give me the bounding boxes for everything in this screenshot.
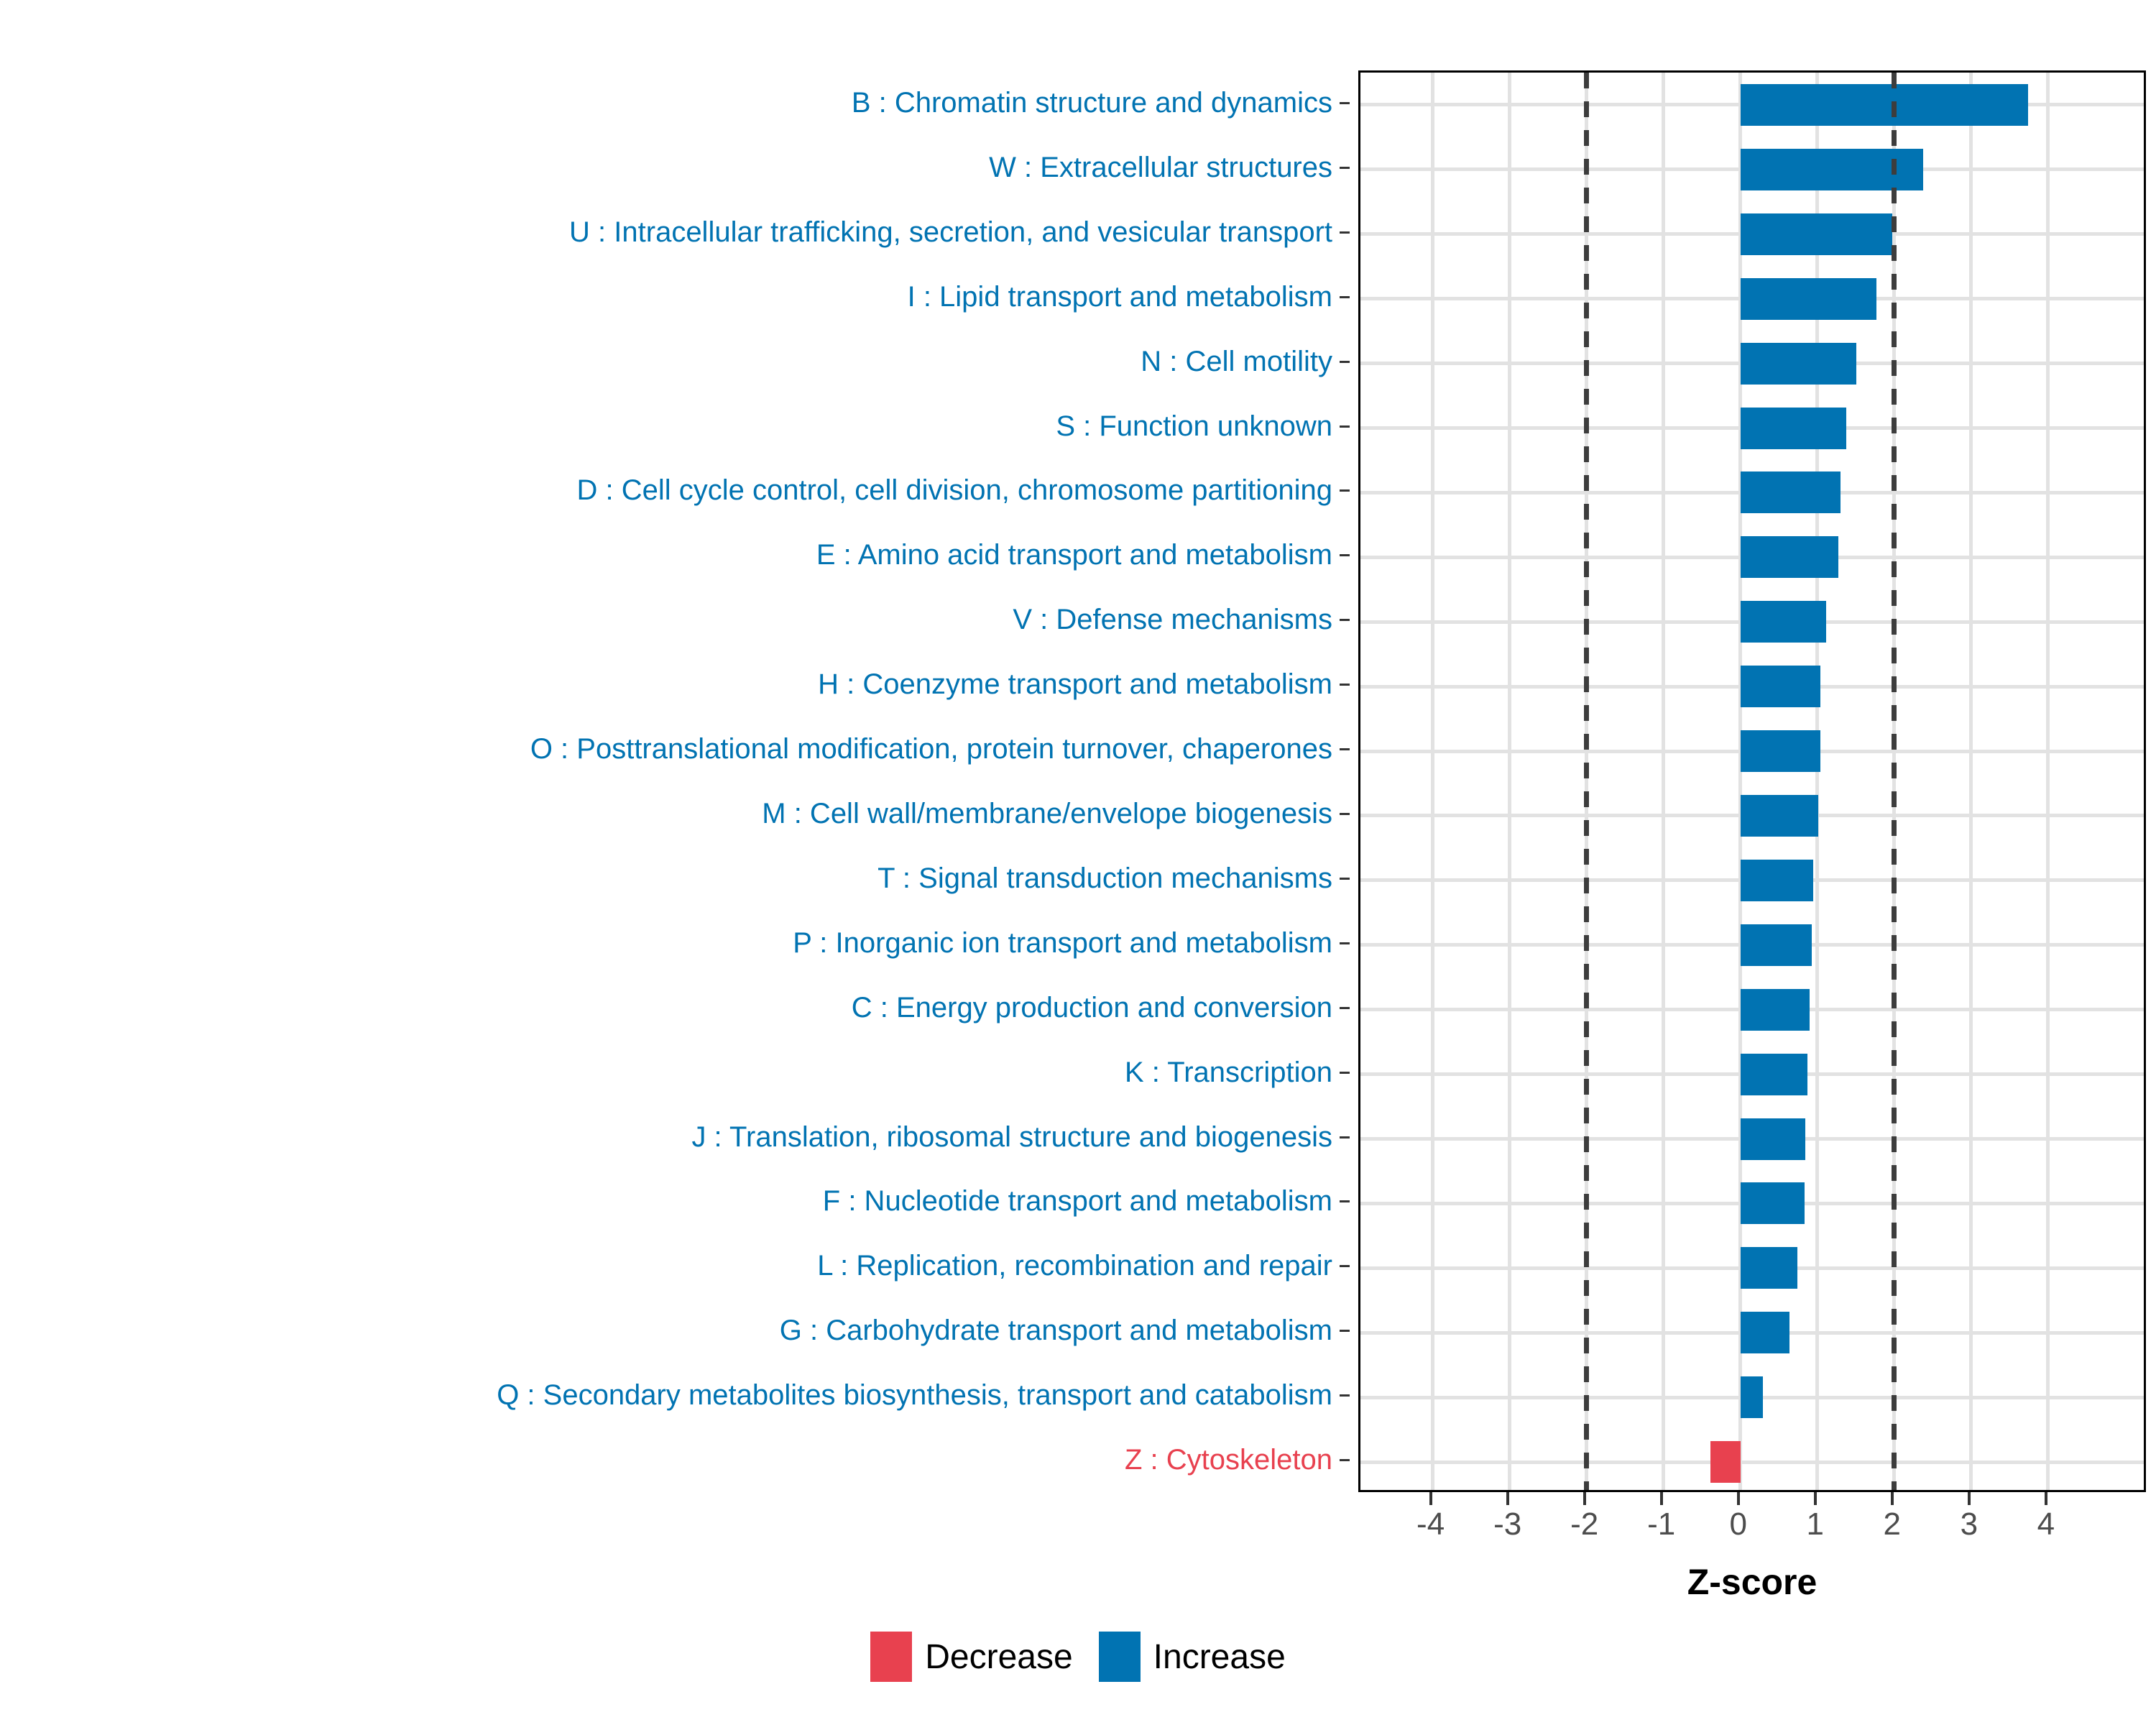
bar[interactable]	[1741, 1118, 1805, 1160]
bar[interactable]	[1710, 1441, 1741, 1483]
y-axis-label: N : Cell motility	[1141, 329, 1332, 394]
y-axis-label: M : Cell wall/membrane/envelope biogenes…	[762, 781, 1332, 846]
y-axis-label: J : Translation, ribosomal structure and…	[691, 1105, 1332, 1169]
legend-swatch	[870, 1632, 912, 1682]
y-axis-label: I : Lipid transport and metabolism	[908, 264, 1332, 329]
y-axis-label: U : Intracellular trafficking, secretion…	[569, 200, 1332, 264]
bar[interactable]	[1741, 471, 1841, 513]
bar[interactable]	[1741, 795, 1818, 837]
plot-panel	[1358, 70, 2146, 1492]
y-axis-label: F : Nucleotide transport and metabolism	[823, 1169, 1332, 1233]
y-axis-tick	[1340, 361, 1350, 363]
bar[interactable]	[1741, 213, 1892, 255]
x-axis-tick	[1737, 1492, 1740, 1505]
bar[interactable]	[1741, 408, 1847, 449]
y-axis-tick	[1340, 1394, 1350, 1397]
x-axis-tick	[1506, 1492, 1509, 1505]
bar[interactable]	[1741, 666, 1820, 707]
legend-label: Increase	[1153, 1637, 1286, 1677]
legend-item[interactable]: Decrease	[870, 1632, 1072, 1682]
y-axis-tick	[1340, 554, 1350, 556]
y-axis-label: P : Inorganic ion transport and metaboli…	[793, 911, 1332, 975]
y-axis-tick	[1340, 1072, 1350, 1074]
bar[interactable]	[1741, 1312, 1790, 1353]
y-axis-tick	[1340, 684, 1350, 686]
y-axis-label: Z : Cytoskeleton	[1125, 1427, 1332, 1492]
y-axis-label: K : Transcription	[1125, 1040, 1332, 1105]
bar[interactable]	[1741, 278, 1876, 320]
x-axis: -4-3-2-101234	[1358, 1492, 2146, 1557]
y-axis-label: D : Cell cycle control, cell division, c…	[576, 458, 1332, 523]
y-axis-label: C : Energy production and conversion	[852, 975, 1332, 1040]
x-axis-tick	[1814, 1492, 1817, 1505]
y-axis-label: O : Posttranslational modification, prot…	[530, 717, 1332, 781]
x-axis-tick-label: -1	[1633, 1506, 1690, 1542]
gridline-horizontal	[1360, 1460, 2144, 1464]
y-axis-tick	[1340, 231, 1350, 234]
x-axis-tick-label: -2	[1556, 1506, 1613, 1542]
bar[interactable]	[1741, 860, 1814, 901]
y-axis-label: W : Extracellular structures	[989, 135, 1332, 200]
gridline-vertical	[1662, 73, 1665, 1490]
y-axis-tick	[1340, 813, 1350, 815]
gridline-vertical	[2046, 73, 2050, 1490]
y-axis-tick	[1340, 1136, 1350, 1138]
bar[interactable]	[1741, 1247, 1797, 1289]
y-axis-tick	[1340, 1459, 1350, 1461]
chart-legend: DecreaseIncrease	[0, 1632, 2156, 1682]
y-axis-tick	[1340, 878, 1350, 880]
y-axis-labels: B : Chromatin structure and dynamicsW : …	[0, 70, 1350, 1492]
bar[interactable]	[1741, 1376, 1763, 1418]
x-axis-tick-label: 1	[1787, 1506, 1844, 1542]
bar[interactable]	[1741, 84, 2028, 126]
y-axis-label: L : Replication, recombination and repai…	[817, 1233, 1332, 1298]
y-axis-tick	[1340, 489, 1350, 492]
x-axis-tick	[1968, 1492, 1971, 1505]
x-axis-tick-label: -3	[1479, 1506, 1537, 1542]
y-axis-tick	[1340, 1330, 1350, 1332]
bar[interactable]	[1741, 343, 1857, 385]
x-axis-tick-label: 4	[2017, 1506, 2075, 1542]
chart-root: B : Chromatin structure and dynamicsW : …	[0, 0, 2156, 1725]
x-axis-tick	[1583, 1492, 1586, 1505]
reference-line	[1584, 73, 1589, 1490]
y-axis-tick	[1340, 1200, 1350, 1202]
x-axis-tick-label: -4	[1402, 1506, 1460, 1542]
bar[interactable]	[1741, 1182, 1805, 1224]
x-axis-tick-label: 2	[1864, 1506, 1921, 1542]
bar[interactable]	[1741, 601, 1826, 643]
y-axis-label: Q : Secondary metabolites biosynthesis, …	[497, 1363, 1332, 1427]
x-axis-tick	[1891, 1492, 1894, 1505]
y-axis-label: T : Signal transduction mechanisms	[877, 846, 1332, 911]
y-axis-tick	[1340, 167, 1350, 169]
x-axis-tick-label: 3	[1940, 1506, 1998, 1542]
y-axis-label: H : Coenzyme transport and metabolism	[818, 652, 1332, 717]
y-axis-tick	[1340, 102, 1350, 104]
y-axis-tick	[1340, 942, 1350, 944]
legend-item[interactable]: Increase	[1099, 1632, 1286, 1682]
legend-label: Decrease	[925, 1637, 1072, 1677]
bar[interactable]	[1741, 924, 1812, 966]
y-axis-label: B : Chromatin structure and dynamics	[852, 70, 1332, 135]
bar[interactable]	[1741, 1054, 1807, 1095]
y-axis-tick	[1340, 296, 1350, 298]
y-axis-tick	[1340, 748, 1350, 750]
legend-swatch	[1099, 1632, 1141, 1682]
gridline-vertical	[1508, 73, 1511, 1490]
y-axis-label: E : Amino acid transport and metabolism	[816, 523, 1332, 587]
y-axis-label: S : Function unknown	[1056, 394, 1332, 459]
reference-line	[1892, 73, 1897, 1490]
x-axis-tick	[1429, 1492, 1432, 1505]
bar[interactable]	[1741, 989, 1810, 1031]
bar[interactable]	[1741, 730, 1820, 772]
x-axis-title: Z-score	[1358, 1561, 2146, 1603]
gridline-vertical	[1969, 73, 1973, 1490]
y-axis-label: V : Defense mechanisms	[1013, 587, 1332, 652]
x-axis-tick	[1660, 1492, 1663, 1505]
bar[interactable]	[1741, 536, 1838, 578]
gridline-vertical	[1431, 73, 1434, 1490]
y-axis-tick	[1340, 1265, 1350, 1267]
x-axis-tick	[2045, 1492, 2047, 1505]
y-axis-tick	[1340, 425, 1350, 428]
y-axis-label: G : Carbohydrate transport and metabolis…	[780, 1298, 1332, 1363]
y-axis-tick	[1340, 1007, 1350, 1009]
x-axis-tick-label: 0	[1710, 1506, 1767, 1542]
y-axis-tick	[1340, 619, 1350, 621]
